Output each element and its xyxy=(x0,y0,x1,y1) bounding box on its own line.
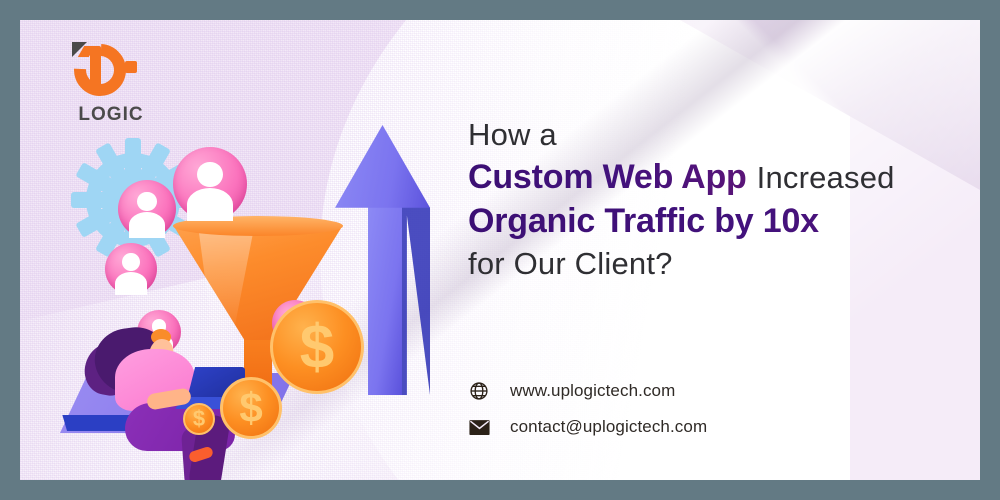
dollar-coin-icon: $ xyxy=(220,377,282,439)
headline-line-4: for Our Client? xyxy=(468,244,980,284)
coin-symbol: $ xyxy=(220,377,282,439)
contact-website-row[interactable]: www.uplogictech.com xyxy=(468,380,707,402)
dollar-coin-icon: $ xyxy=(183,403,215,435)
contact-block: www.uplogictech.com contact@uplogictech.… xyxy=(468,380,707,452)
headline-line-3: Organic Traffic by 10x xyxy=(468,199,980,243)
envelope-icon xyxy=(468,416,490,438)
user-avatar-icon xyxy=(105,243,157,295)
headline-emphasis-1: Custom Web App xyxy=(468,155,747,199)
headline-block: How a Custom Web App Increased Organic T… xyxy=(468,115,980,284)
dollar-coin-icon: $ xyxy=(270,300,364,394)
banner-frame: LOGIC xyxy=(0,0,1000,500)
headline-line-1: How a xyxy=(468,115,980,155)
user-avatar-icon xyxy=(173,147,247,221)
logo-dot-icon xyxy=(125,61,137,73)
email-text: contact@uplogictech.com xyxy=(510,417,707,437)
uplogic-mark-icon xyxy=(66,42,136,100)
website-text: www.uplogictech.com xyxy=(510,381,675,401)
banner-card: LOGIC xyxy=(20,20,980,480)
user-avatar-icon xyxy=(118,180,176,238)
coin-symbol: $ xyxy=(183,403,215,435)
contact-email-row[interactable]: contact@uplogictech.com xyxy=(468,416,707,438)
globe-icon xyxy=(468,380,490,402)
headline-plain-1: Increased xyxy=(757,158,895,198)
logo-one-icon xyxy=(90,46,101,86)
hero-illustration: $ $ $ xyxy=(65,115,485,480)
coin-symbol: $ xyxy=(270,300,364,394)
headline-line-2: Custom Web App Increased xyxy=(468,155,980,199)
